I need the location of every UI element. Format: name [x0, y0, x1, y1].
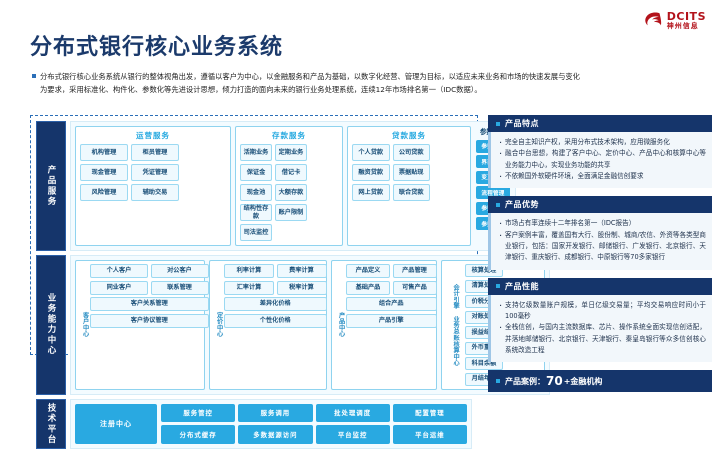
list-item: 支持亿级数量账户规模，单日亿级交易量；平均交易响应时间小于100毫秒	[498, 300, 706, 323]
tile-item[interactable]: 账户限制	[275, 204, 307, 221]
card-product-advantages: 产品优势 市场占有率连续十二年排名第一（IDC报告） 客户案例丰富，覆盖国有大行…	[488, 196, 712, 269]
tile-item[interactable]: 可售产品	[393, 281, 437, 295]
list-item: 完全自主知识产权，采用分布式技术架构，应用微服务化	[498, 137, 706, 148]
intro-text-1: 分布式银行核心业务系统从银行的整体视角出发，遵循以客户为中心，以金融服务和产品为…	[40, 72, 580, 81]
tile-item[interactable]: 利率计算	[224, 264, 274, 278]
center-name-accounting: 会计引擎 业务总账 核算中心	[445, 264, 465, 386]
page-title: 分布式银行核心业务系统	[30, 29, 283, 61]
case-label: 产品案例：	[505, 376, 545, 387]
row-label-capability-centers: 业务能力中心	[36, 255, 66, 395]
tiles-deposit: 活期业务 定期业务 保证金 借记卡 现金池 大额存款 结构性存款 账户限制 司法…	[240, 144, 338, 241]
tech-button[interactable]: 分布式缓存	[161, 425, 235, 444]
center-name-pricing: 定价中心	[213, 264, 224, 386]
card-header: 产品性能	[488, 278, 712, 295]
tile-item[interactable]: 差异化价格	[224, 297, 327, 311]
card-header: 产品优势	[488, 196, 712, 213]
tile-item[interactable]: 网上贷款	[352, 184, 390, 201]
card-title: 产品特点	[505, 118, 539, 129]
group-title-deposit: 存款服务	[240, 130, 338, 141]
info-panel: 产品特点 完全自主知识产权，采用分布式技术架构，应用微服务化 融合中台思想，构建…	[488, 115, 712, 392]
tech-button[interactable]: 批处理调度	[316, 404, 390, 423]
case-number: 70	[546, 374, 563, 388]
tile-item[interactable]: 费率计算	[277, 264, 327, 278]
tile-item[interactable]: 组合产品	[346, 297, 437, 311]
card-body: 完全自主知识产权，采用分布式技术架构，应用微服务化 融合中台思想，构建了客户中心…	[488, 132, 712, 188]
tile-item[interactable]: 定期业务	[275, 144, 307, 161]
list-item: 不依赖国外软硬件环境，全面满足金融信创要求	[498, 171, 706, 182]
brand-logo: DCITS 神州信息	[643, 10, 706, 30]
tile-item[interactable]: 汇率计算	[224, 281, 274, 295]
tile-item[interactable]: 凭证管理	[131, 164, 179, 181]
list-item: 市场占有率连续十二年排名第一（IDC报告）	[498, 218, 706, 229]
group-title-loan: 贷款服务	[352, 130, 466, 141]
list-item: 客户案例丰富，覆盖国有大行、股份制、城商/农信、外资等各类型商业银行，包括：国家…	[498, 230, 706, 264]
tile-item[interactable]: 机构管理	[80, 144, 128, 161]
tile-item[interactable]: 借记卡	[275, 164, 307, 181]
product-case-banner: 产品案例： 70 +金融机构	[488, 370, 712, 392]
row-label-product-services: 产品服务	[36, 121, 66, 251]
dcits-swirl-icon	[643, 10, 663, 30]
tech-button[interactable]: 服务管控	[161, 404, 235, 423]
tile-item[interactable]: 保证金	[240, 164, 272, 181]
slide-page: DCITS 神州信息 分布式银行核心业务系统 分布式银行核心业务系统从银行的整体…	[0, 0, 720, 405]
intro-line-2: 为要求，采用标准化、构件化、参数化等先进设计思想，倾力打造的面向未来的银行业务处…	[40, 83, 704, 96]
center-grid-product: 产品定义 产品管理 基础产品 可售产品 组合产品 产品引擎	[346, 264, 437, 386]
bullet-square-icon	[496, 284, 500, 288]
capability-centers-body: 客户中心 个人客户 对公客户 同业客户 联系管理 客户关系管理 客户协议管理 定…	[70, 255, 550, 395]
tile-item[interactable]: 产品引擎	[346, 314, 437, 328]
center-customer[interactable]: 客户中心 个人客户 对公客户 同业客户 联系管理 客户关系管理 客户协议管理	[75, 260, 205, 390]
center-grid-customer: 个人客户 对公客户 同业客户 联系管理 客户关系管理 客户协议管理	[90, 264, 209, 386]
arch-row-product-services: 产品服务 运营服务 机构管理 柜员管理 现金管理 凭证管理 风险管理 辅助交易 …	[36, 121, 472, 251]
bullet-square-icon	[496, 203, 500, 207]
card-product-features: 产品特点 完全自主知识产权，采用分布式技术架构，应用微服务化 融合中台思想，构建…	[488, 115, 712, 188]
center-grid-pricing: 利率计算 费率计算 汇率计算 税率计算 差异化价格 个性化价格	[224, 264, 327, 386]
tile-item[interactable]: 个人贷款	[352, 144, 390, 161]
card-product-performance: 产品性能 支持亿级数量账户规模，单日亿级交易量；平均交易响应时间小于100毫秒 …	[488, 278, 712, 363]
tile-item[interactable]: 票据贴现	[393, 164, 431, 181]
arch-row-capability-centers: 业务能力中心 客户中心 个人客户 对公客户 同业客户 联系管理 客户关系管理 客…	[36, 255, 472, 395]
tile-item[interactable]: 联合贷款	[393, 184, 431, 201]
row-label-tech-platform: 技术平台	[36, 399, 66, 449]
product-services-body: 运营服务 机构管理 柜员管理 现金管理 凭证管理 风险管理 辅助交易 存款服务 …	[70, 121, 516, 251]
card-list: 支持亿级数量账户规模，单日亿级交易量；平均交易响应时间小于100毫秒 全栈信创，…	[498, 300, 706, 357]
list-item: 全栈信创，与国内主流数据库、芯片、操作系统全面实现信创适配，并落地邮储银行、北京…	[498, 322, 706, 356]
bullet-square-icon	[496, 379, 500, 383]
tech-button[interactable]: 多数据源访问	[238, 425, 312, 444]
center-pricing[interactable]: 定价中心 利率计算 费率计算 汇率计算 税率计算 差异化价格 个性化价格	[209, 260, 327, 390]
card-list: 完全自主知识产权，采用分布式技术架构，应用微服务化 融合中台思想，构建了客户中心…	[498, 137, 706, 182]
tile-item[interactable]: 现金管理	[80, 164, 128, 181]
intro-paragraph: 分布式银行核心业务系统从银行的整体视角出发，遵循以客户为中心，以金融服务和产品为…	[32, 70, 704, 97]
tile-item[interactable]: 公司贷款	[393, 144, 431, 161]
tile-item[interactable]: 产品定义	[346, 264, 390, 278]
tile-item[interactable]: 基础产品	[346, 281, 390, 295]
center-product[interactable]: 产品中心 产品定义 产品管理 基础产品 可售产品 组合产品 产品引擎	[331, 260, 437, 390]
tile-item[interactable]: 产品管理	[393, 264, 437, 278]
tile-item[interactable]: 个性化价格	[224, 314, 327, 328]
tile-item[interactable]: 现金池	[240, 184, 272, 201]
center-name-accounting-extra: 会计引擎 业务总账	[452, 284, 458, 341]
tile-item[interactable]: 结构性存款	[240, 204, 272, 221]
tile-item[interactable]: 风险管理	[80, 184, 128, 201]
arch-row-tech-platform: 技术平台 注册中心 服务管控 服务调用 批处理调度 配置管理 分布式缓存 多数据…	[36, 399, 472, 449]
tiles-operations: 机构管理 柜员管理 现金管理 凭证管理 风险管理 辅助交易	[80, 144, 226, 201]
bullet-square-icon	[32, 74, 36, 78]
logo-wordmark: DCITS 神州信息	[667, 11, 706, 30]
tile-item[interactable]: 联系管理	[151, 281, 209, 295]
center-name-customer: 客户中心	[79, 264, 90, 386]
logo-cn-text: 神州信息	[667, 23, 706, 30]
group-loan[interactable]: 贷款服务 个人贷款 公司贷款 融资贷款 票据贴现 网上贷款 联合贷款	[347, 126, 471, 246]
tech-button[interactable]: 服务调用	[238, 404, 312, 423]
card-list: 市场占有率连续十二年排名第一（IDC报告） 客户案例丰富，覆盖国有大行、股份制、…	[498, 218, 706, 263]
tile-item[interactable]: 客户关系管理	[90, 297, 209, 311]
registry-center-button[interactable]: 注册中心	[75, 404, 157, 444]
tech-button[interactable]: 平台运维	[393, 425, 467, 444]
group-deposit[interactable]: 存款服务 活期业务 定期业务 保证金 借记卡 现金池 大额存款 结构性存款 账户…	[235, 126, 343, 246]
architecture-diagram: 产品服务 运营服务 机构管理 柜员管理 现金管理 凭证管理 风险管理 辅助交易 …	[30, 115, 478, 355]
tile-item[interactable]: 同业客户	[90, 281, 148, 295]
card-header: 产品特点	[488, 115, 712, 132]
tiles-loan: 个人贷款 公司贷款 融资贷款 票据贴现 网上贷款 联合贷款	[352, 144, 466, 201]
list-item: 融合中台思想，构建了客户中心、定价中心、产品中心和核算中心等业务能力中心，实现业…	[498, 148, 706, 171]
tile-item[interactable]: 融资贷款	[352, 164, 390, 181]
tech-platform-body: 注册中心 服务管控 服务调用 批处理调度 配置管理 分布式缓存 多数据源访问 平…	[70, 399, 472, 449]
tile-item[interactable]: 辅助交易	[131, 184, 179, 201]
tile-item[interactable]: 活期业务	[240, 144, 272, 161]
tile-item[interactable]: 对公客户	[151, 264, 209, 278]
bullet-square-icon	[496, 122, 500, 126]
tile-item[interactable]: 柜员管理	[131, 144, 179, 161]
group-operations[interactable]: 运营服务 机构管理 柜员管理 现金管理 凭证管理 风险管理 辅助交易	[75, 126, 231, 246]
tech-buttons: 服务管控 服务调用 批处理调度 配置管理 分布式缓存 多数据源访问 平台监控 平…	[161, 404, 467, 444]
center-name-accounting-main: 核算中心	[452, 341, 458, 366]
card-title: 产品优势	[505, 199, 539, 210]
tile-item[interactable]: 大额存款	[275, 184, 307, 201]
tile-item[interactable]: 客户协议管理	[90, 314, 209, 328]
case-suffix: +金融机构	[564, 376, 603, 387]
group-title-operations: 运营服务	[80, 130, 226, 141]
card-title: 产品性能	[505, 281, 539, 292]
center-name-product: 产品中心	[335, 264, 346, 386]
tile-item[interactable]: 个人客户	[90, 264, 148, 278]
tech-platform-grid: 注册中心 服务管控 服务调用 批处理调度 配置管理 分布式缓存 多数据源访问 平…	[75, 404, 467, 444]
intro-line-1: 分布式银行核心业务系统从银行的整体视角出发，遵循以客户为中心，以金融服务和产品为…	[32, 70, 704, 83]
card-body: 支持亿级数量账户规模，单日亿级交易量；平均交易响应时间小于100毫秒 全栈信创，…	[488, 295, 712, 363]
tech-button[interactable]: 配置管理	[393, 404, 467, 423]
tile-item[interactable]: 税率计算	[277, 281, 327, 295]
logo-en-text: DCITS	[667, 11, 706, 22]
tile-item[interactable]: 司法监控	[240, 224, 272, 241]
tech-button[interactable]: 平台监控	[316, 425, 390, 444]
card-body: 市场占有率连续十二年排名第一（IDC报告） 客户案例丰富，覆盖国有大行、股份制、…	[488, 213, 712, 269]
